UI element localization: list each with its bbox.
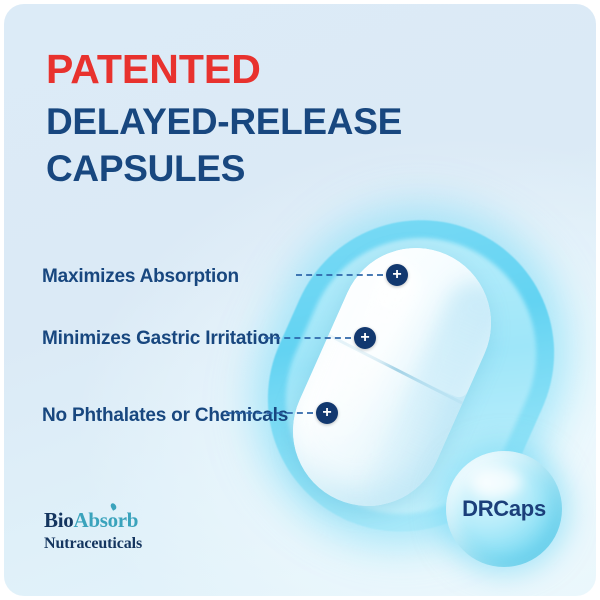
poster-canvas: DRCaps PATENTED DELAYED-RELEASE CAPSULES…	[4, 4, 596, 596]
drcaps-badge-label: DRCaps	[446, 451, 562, 567]
droplet-o-icon: o	[108, 508, 118, 532]
feature-item-1: Maximizes Absorption	[42, 265, 239, 288]
page-title: PATENTED DELAYED-RELEASE CAPSULES	[46, 48, 476, 188]
plus-icon-2: +	[354, 327, 376, 349]
dashed-line-icon	[264, 337, 351, 339]
dashed-line-icon	[226, 412, 313, 414]
headline-line-2: DELAYED-RELEASE	[46, 102, 476, 141]
brand-name-abs: Abs	[73, 508, 107, 532]
feature-connector-1: +	[296, 264, 408, 286]
feature-connector-3: +	[226, 402, 338, 424]
brand-name-rb: rb	[118, 508, 138, 532]
feature-label-2: Minimizes Gastric Irritation	[42, 327, 280, 350]
feature-label-1: Maximizes Absorption	[42, 265, 239, 288]
feature-connector-2: +	[264, 327, 376, 349]
headline-line-3: CAPSULES	[46, 149, 476, 188]
product-poster: DRCaps PATENTED DELAYED-RELEASE CAPSULES…	[0, 0, 600, 600]
brand-logo: BioAbsorb Nutraceuticals	[44, 510, 142, 553]
capsule-cap	[327, 224, 515, 400]
plus-icon-3: +	[316, 402, 338, 424]
plus-icon-1: +	[386, 264, 408, 286]
headline-patented: PATENTED	[46, 48, 476, 91]
dashed-line-icon	[296, 274, 383, 276]
brand-name: BioAbsorb	[44, 510, 142, 531]
brand-tagline: Nutraceuticals	[44, 535, 142, 553]
feature-item-2: Minimizes Gastric Irritation	[42, 327, 280, 350]
brand-name-bio: Bio	[44, 508, 73, 532]
